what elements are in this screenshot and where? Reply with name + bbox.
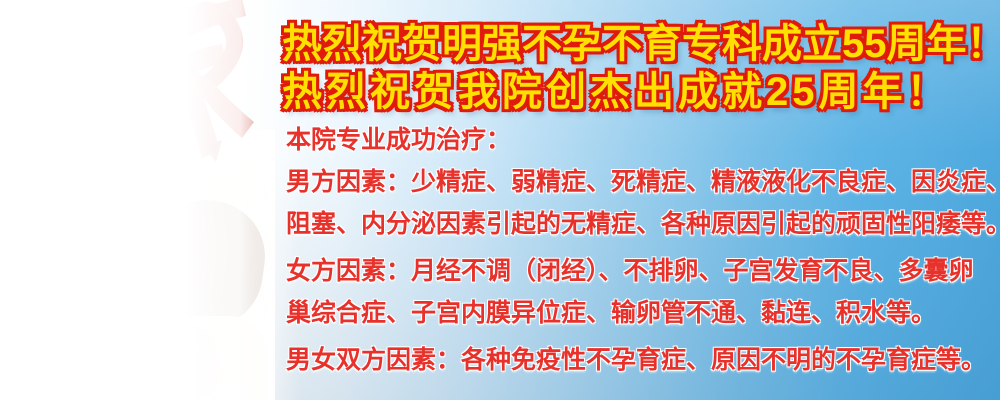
body-intro-line: 本院专业成功治疗： — [286, 128, 992, 153]
red-awareness-ribbon — [96, 0, 300, 184]
artwork-column — [0, 0, 300, 400]
headline-block: 热烈祝贺明强不孕不育专科成立55周年！ 热烈祝贺我院创杰出成就25周年！ — [282, 22, 988, 114]
clinic-advertisement-banner: 热烈祝贺明强不孕不育专科成立55周年！ 热烈祝贺我院创杰出成就25周年！ 本院专… — [0, 0, 1000, 400]
male-factor-line-2: 阻塞、内分泌因素引起的无精症、各种原因引起的顽固性阳痿等。 — [286, 212, 992, 237]
male-factor-line-1: 男方因素：少精症、弱精症、死精症、精液液化不良症、因炎症、 — [286, 170, 992, 195]
headline-line-1: 热烈祝贺明强不孕不育专科成立55周年！ — [282, 22, 988, 66]
headline-line-2: 热烈祝贺我院创杰出成就25周年！ — [282, 70, 988, 114]
body-text-block: 本院专业成功治疗： 男方因素：少精症、弱精症、死精症、精液液化不良症、因炎症、 … — [286, 128, 992, 373]
both-factor-line-1: 男女双方因素：各种免疫性不孕育症、原因不明的不孕育症等。 — [286, 348, 992, 373]
female-factor-line-1: 女方因素：月经不调（闭经）、不排卵、子宫发育不良、多囊卵 — [286, 259, 992, 284]
female-factor-line-2: 巢综合症、子宫内膜异位症、输卵管不通、黏连、积水等。 — [286, 301, 992, 326]
